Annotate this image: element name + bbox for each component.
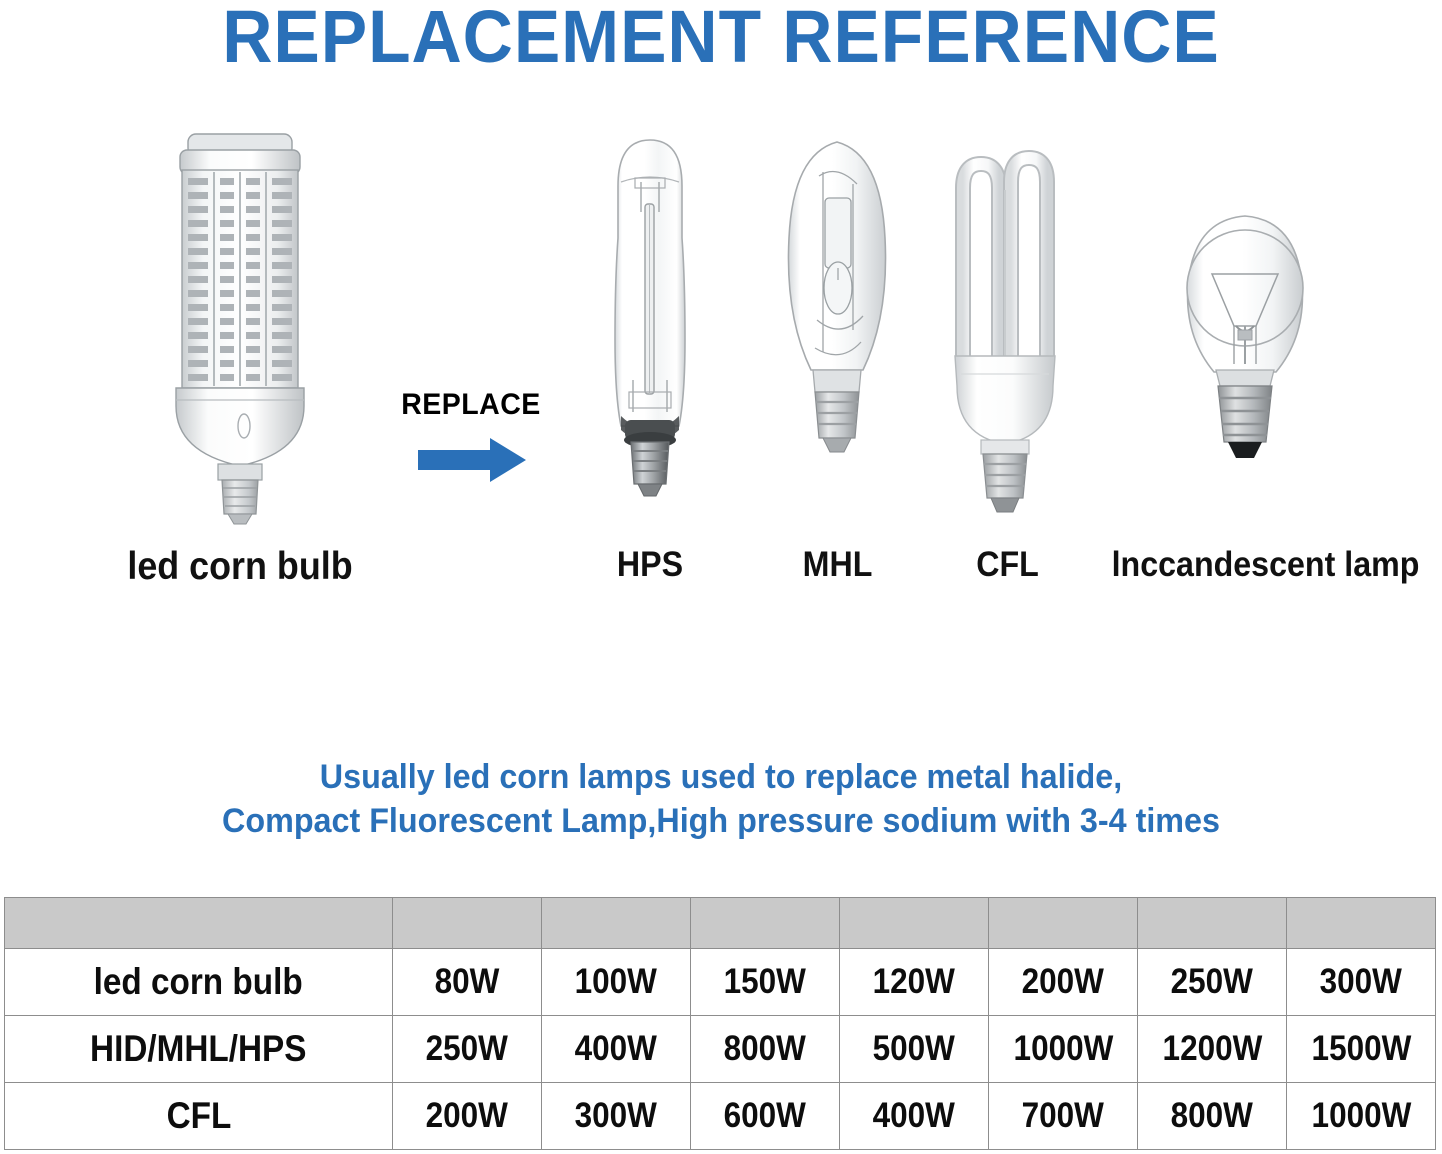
cell-text: 400W bbox=[873, 1096, 955, 1136]
wattage-comparison-table: led corn bulb 80W 100W 150W 120W 200W 25… bbox=[4, 897, 1436, 1150]
cfl-bulb-icon bbox=[925, 120, 1090, 540]
table-header-cell-6 bbox=[1138, 898, 1287, 949]
table-header-cell-4 bbox=[840, 898, 989, 949]
bulb-item-incandescent: lnccandescent lamp bbox=[1100, 120, 1390, 580]
led-corn-bulb-icon bbox=[90, 120, 390, 540]
cell-hid-0: 250W bbox=[393, 1016, 542, 1083]
bulb-item-led-corn-bulb: led corn bulb bbox=[90, 120, 390, 580]
cell-led-4: 200W bbox=[989, 949, 1138, 1016]
cell-text: 120W bbox=[873, 962, 955, 1002]
cell-text: 800W bbox=[724, 1029, 806, 1069]
row-label-text: CFL bbox=[166, 1095, 231, 1137]
bulb-showcase: led corn bulb REPLACE bbox=[0, 120, 1442, 600]
cell-text: 150W bbox=[724, 962, 806, 1002]
row-label-text: HID/MHL/HPS bbox=[90, 1028, 306, 1070]
table-header-cell-1 bbox=[393, 898, 542, 949]
cell-text: 300W bbox=[575, 1096, 657, 1136]
table-header-cell-3 bbox=[691, 898, 840, 949]
row-label-text: led corn bulb bbox=[94, 961, 303, 1003]
row-label-led-corn-bulb: led corn bulb bbox=[5, 949, 393, 1016]
cell-text: 1000W bbox=[1311, 1096, 1411, 1136]
table-row: HID/MHL/HPS 250W 400W 800W 500W 1000W 12… bbox=[5, 1016, 1436, 1083]
cell-led-2: 150W bbox=[691, 949, 840, 1016]
cell-led-0: 80W bbox=[393, 949, 542, 1016]
cell-hid-3: 500W bbox=[840, 1016, 989, 1083]
cell-led-6: 300W bbox=[1287, 949, 1436, 1016]
cell-cfl-3: 400W bbox=[840, 1083, 989, 1150]
cell-text: 200W bbox=[426, 1096, 508, 1136]
row-label-hid-mhl-hps: HID/MHL/HPS bbox=[5, 1016, 393, 1083]
cell-cfl-6: 1000W bbox=[1287, 1083, 1436, 1150]
cell-text: 1500W bbox=[1311, 1029, 1411, 1069]
page-title: REPLACEMENT REFERENCE bbox=[43, 0, 1398, 79]
arrow-right-icon bbox=[386, 434, 556, 486]
cell-text: 1000W bbox=[1013, 1029, 1113, 1069]
cell-text: 600W bbox=[724, 1096, 806, 1136]
cell-text: 250W bbox=[426, 1029, 508, 1069]
cell-text: 80W bbox=[435, 962, 500, 1002]
cell-text: 800W bbox=[1171, 1096, 1253, 1136]
cell-text: 250W bbox=[1171, 962, 1253, 1002]
cell-cfl-0: 200W bbox=[393, 1083, 542, 1150]
cell-text: 400W bbox=[575, 1029, 657, 1069]
cell-cfl-2: 600W bbox=[691, 1083, 840, 1150]
bulb-item-hps: HPS bbox=[555, 120, 745, 580]
cell-led-5: 250W bbox=[1138, 949, 1287, 1016]
cell-text: 1200W bbox=[1162, 1029, 1262, 1069]
row-label-cfl: CFL bbox=[5, 1083, 393, 1150]
cell-hid-4: 1000W bbox=[989, 1016, 1138, 1083]
cell-led-3: 120W bbox=[840, 949, 989, 1016]
bulb-label-incandescent: lnccandescent lamp bbox=[1112, 545, 1379, 585]
cell-text: 700W bbox=[1022, 1096, 1104, 1136]
replace-indicator: REPLACE bbox=[386, 388, 556, 486]
cell-hid-6: 1500W bbox=[1287, 1016, 1436, 1083]
table-header-cell-0 bbox=[5, 898, 393, 949]
bulb-label-mhl: MHL bbox=[752, 545, 922, 585]
cell-cfl-4: 700W bbox=[989, 1083, 1138, 1150]
description-line-2: Compact Fluorescent Lamp,High pressure s… bbox=[36, 799, 1406, 843]
table-row: led corn bulb 80W 100W 150W 120W 200W 25… bbox=[5, 949, 1436, 1016]
hps-bulb-icon bbox=[555, 120, 745, 540]
replace-label: REPLACE bbox=[390, 388, 552, 422]
cell-led-1: 100W bbox=[542, 949, 691, 1016]
description-paragraph: Usually led corn lamps used to replace m… bbox=[36, 755, 1406, 843]
cell-hid-1: 400W bbox=[542, 1016, 691, 1083]
bulb-label-cfl: CFL bbox=[932, 545, 1084, 585]
cell-cfl-1: 300W bbox=[542, 1083, 691, 1150]
cell-hid-5: 1200W bbox=[1138, 1016, 1287, 1083]
cell-cfl-5: 800W bbox=[1138, 1083, 1287, 1150]
cell-text: 200W bbox=[1022, 962, 1104, 1002]
cell-text: 300W bbox=[1320, 962, 1402, 1002]
bulb-item-mhl: MHL bbox=[745, 120, 930, 580]
bulb-label-hps: HPS bbox=[563, 545, 738, 585]
cell-text: 500W bbox=[873, 1029, 955, 1069]
table-header-cell-2 bbox=[542, 898, 691, 949]
table-row: CFL 200W 300W 600W 400W 700W 800W 1000W bbox=[5, 1083, 1436, 1150]
table-header-cell-5 bbox=[989, 898, 1138, 949]
cell-text: 100W bbox=[575, 962, 657, 1002]
cell-hid-2: 800W bbox=[691, 1016, 840, 1083]
table-header-cell-7 bbox=[1287, 898, 1436, 949]
table-header-row bbox=[5, 898, 1436, 949]
description-line-1: Usually led corn lamps used to replace m… bbox=[36, 755, 1406, 799]
mhl-bulb-icon bbox=[745, 120, 930, 540]
bulb-label-led-corn-bulb: led corn bulb bbox=[102, 545, 378, 589]
incandescent-bulb-icon bbox=[1100, 120, 1390, 540]
bulb-item-cfl: CFL bbox=[925, 120, 1090, 580]
